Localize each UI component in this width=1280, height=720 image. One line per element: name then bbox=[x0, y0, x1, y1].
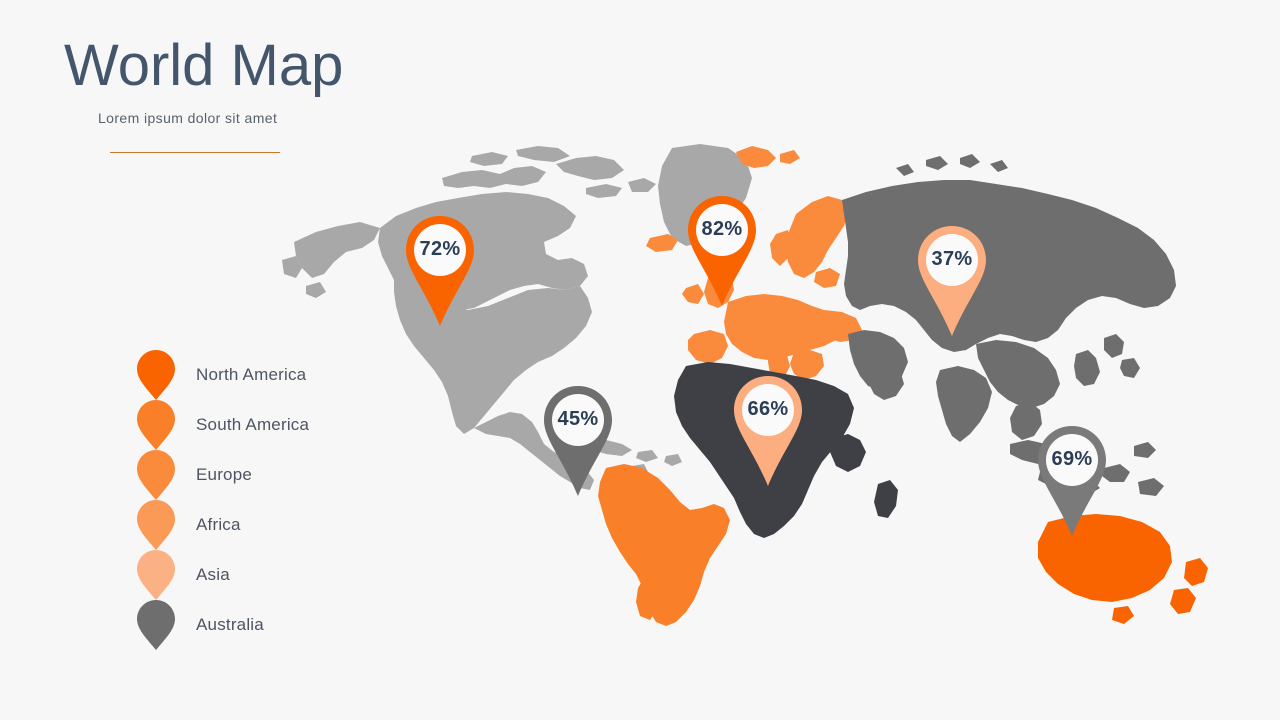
pin-shape-asia bbox=[916, 224, 988, 338]
page-title: World Map bbox=[64, 34, 343, 98]
legend-label-africa: Africa bbox=[196, 515, 241, 535]
legend-label-australia: Australia bbox=[196, 615, 264, 635]
page-subtitle: Lorem ipsum dolor sit amet bbox=[98, 108, 277, 128]
map-pin-icon-south-america bbox=[136, 399, 176, 451]
map-pin-icon-asia bbox=[136, 549, 176, 601]
region-north-america[interactable] bbox=[282, 144, 752, 496]
pin-shape-north-america bbox=[404, 214, 476, 328]
legend-label-europe: Europe bbox=[196, 465, 252, 485]
map-marker-australia[interactable]: 69% bbox=[1036, 424, 1108, 538]
legend-label-north-america: North America bbox=[196, 365, 306, 385]
pin-shape-africa bbox=[732, 374, 804, 488]
map-marker-south-america[interactable]: 45% bbox=[542, 384, 614, 498]
map-pin-icon-north-america bbox=[136, 349, 176, 401]
legend-label-south-america: South America bbox=[196, 415, 309, 435]
legend-label-asia: Asia bbox=[196, 565, 230, 585]
map-pin-icon-europe bbox=[136, 449, 176, 501]
map-marker-africa[interactable]: 66% bbox=[732, 374, 804, 488]
map-pin-icon-australia bbox=[136, 599, 176, 651]
map-marker-asia[interactable]: 37% bbox=[916, 224, 988, 338]
legend-item-south-america[interactable]: South America bbox=[136, 400, 309, 450]
slide-canvas: World Map Lorem ipsum dolor sit amet bbox=[0, 0, 1280, 720]
title-underline-rule bbox=[110, 152, 280, 153]
legend-item-australia[interactable]: Australia bbox=[136, 600, 309, 650]
region-south-america[interactable] bbox=[598, 464, 730, 626]
map-pin-icon-africa bbox=[136, 499, 176, 551]
region-asia[interactable] bbox=[842, 154, 1176, 496]
pin-shape-europe bbox=[686, 194, 758, 308]
map-marker-europe[interactable]: 82% bbox=[686, 194, 758, 308]
pin-shape-south-america bbox=[542, 384, 614, 498]
pin-shape-australia bbox=[1036, 424, 1108, 538]
legend-item-africa[interactable]: Africa bbox=[136, 500, 309, 550]
legend-item-north-america[interactable]: North America bbox=[136, 350, 309, 400]
legend-item-europe[interactable]: Europe bbox=[136, 450, 309, 500]
map-marker-north-america[interactable]: 72% bbox=[404, 214, 476, 328]
legend: North America South America Europe Afric… bbox=[136, 350, 309, 650]
legend-item-asia[interactable]: Asia bbox=[136, 550, 309, 600]
